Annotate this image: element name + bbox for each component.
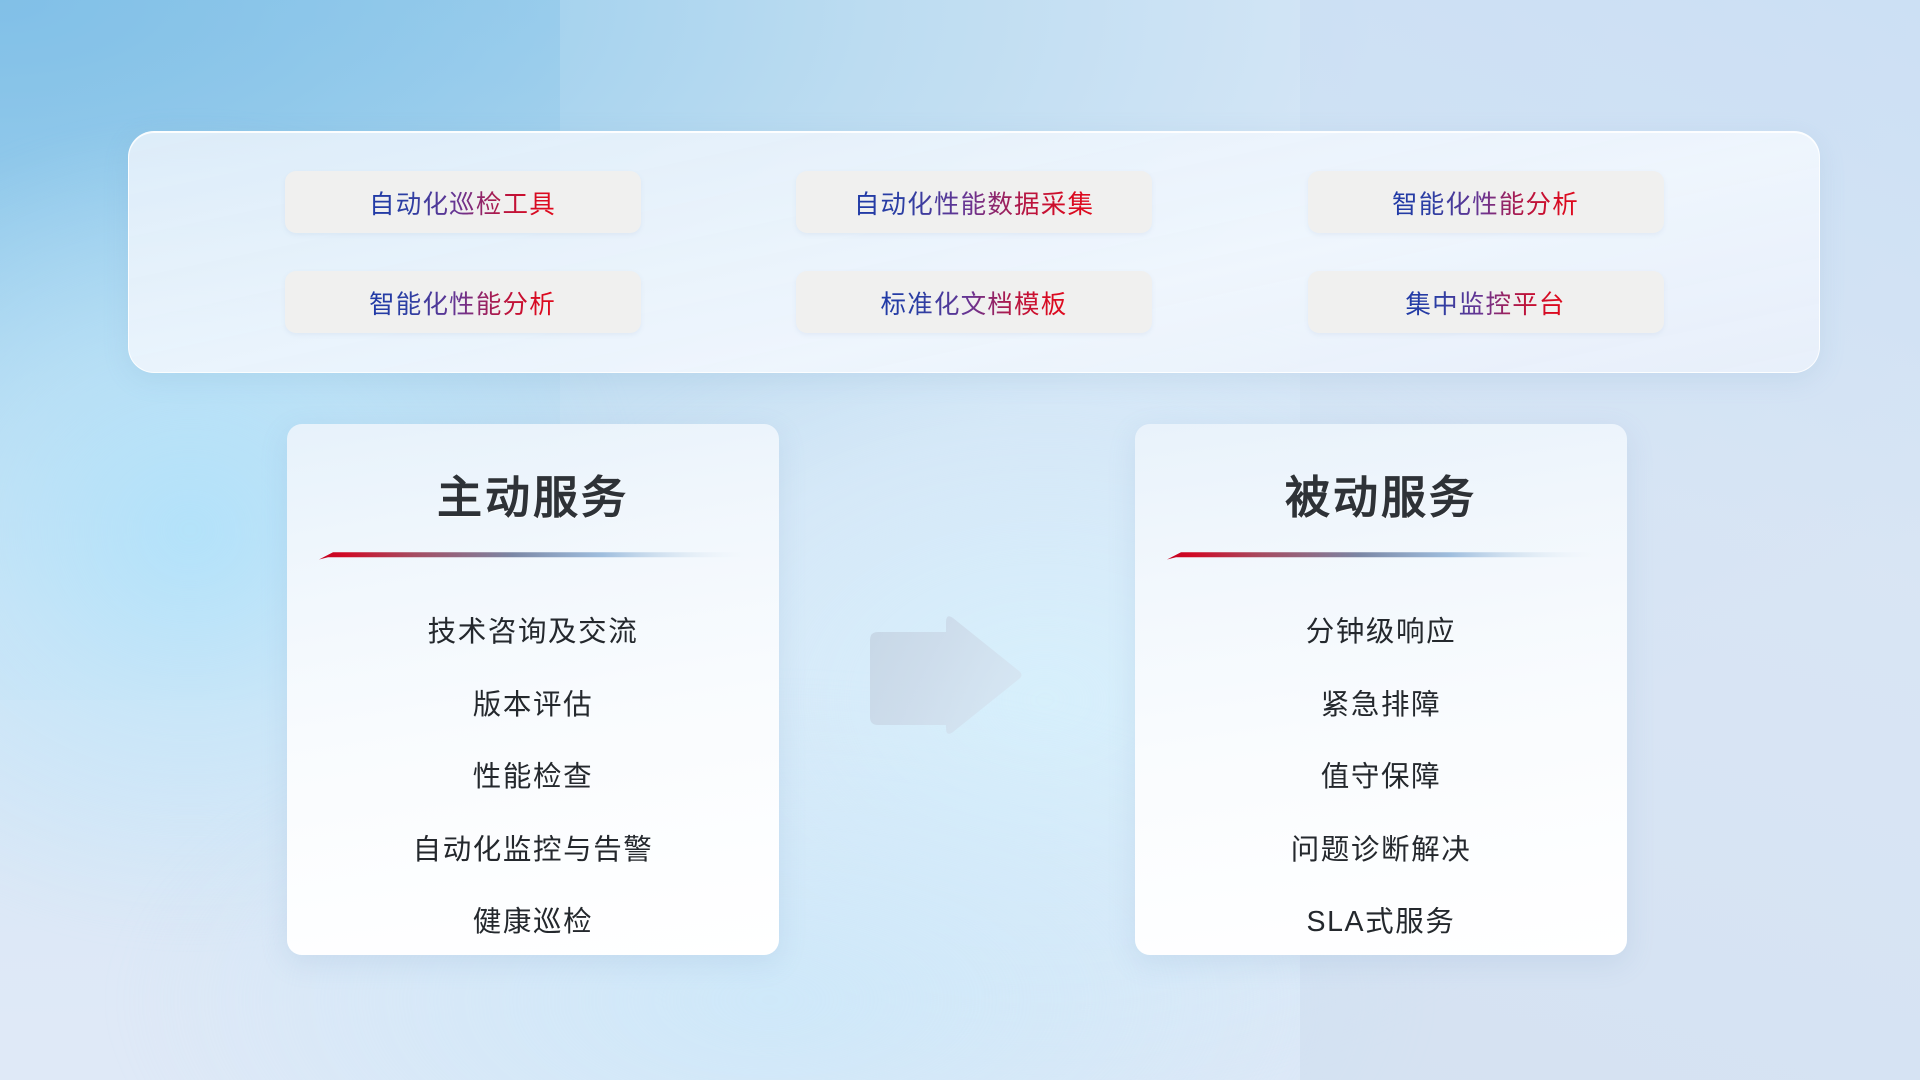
list-item: 技术咨询及交流 [287,596,779,669]
capability-pill-label: 自动化巡检工具 [369,184,556,221]
list-item: 版本评估 [287,669,779,742]
active-service-title: 主动服务 [287,461,779,526]
title-underline-accent [319,550,749,562]
capability-pill-1[interactable]: 自动化巡检工具 [285,171,641,233]
list-item: 自动化监控与告警 [287,814,779,887]
passive-service-card: 被动服务 分钟级响应 紧急排障 值守保障 问题诊断解决 SLA式服务 [1135,424,1627,955]
capability-pill-6[interactable]: 集中监控平台 [1308,271,1664,333]
capability-pill-label: 标准化文档模板 [881,284,1068,321]
active-service-list: 技术咨询及交流 版本评估 性能检查 自动化监控与告警 健康巡检 [287,596,779,955]
capabilities-panel: 自动化巡检工具 自动化性能数据采集 智能化性能分析 智能化性能分析 标准化文档模… [128,131,1820,373]
passive-service-list: 分钟级响应 紧急排障 值守保障 问题诊断解决 SLA式服务 [1135,596,1627,955]
list-item: SLA式服务 [1135,886,1627,955]
capability-pill-3[interactable]: 智能化性能分析 [1308,171,1664,233]
capability-pill-grid: 自动化巡检工具 自动化性能数据采集 智能化性能分析 智能化性能分析 标准化文档模… [129,132,1819,372]
capability-pill-4[interactable]: 智能化性能分析 [285,271,641,333]
list-item: 健康巡检 [287,886,779,955]
list-item: 性能检查 [287,741,779,814]
capability-pill-label: 智能化性能分析 [369,284,556,321]
list-item: 问题诊断解决 [1135,814,1627,887]
title-underline-accent [1167,550,1597,562]
capability-pill-label: 自动化性能数据采集 [854,184,1094,221]
passive-service-title: 被动服务 [1135,461,1627,526]
capability-pill-label: 智能化性能分析 [1392,184,1579,221]
list-item: 紧急排障 [1135,669,1627,742]
right-arrow-icon [862,612,1029,745]
capability-pill-5[interactable]: 标准化文档模板 [796,271,1152,333]
capability-pill-2[interactable]: 自动化性能数据采集 [796,171,1152,233]
list-item: 值守保障 [1135,741,1627,814]
list-item: 分钟级响应 [1135,596,1627,669]
active-service-card: 主动服务 技术咨询及交流 版本评估 性能检查 自动化监控与告警 健康巡检 [287,424,779,955]
capability-pill-label: 集中监控平台 [1405,284,1565,321]
